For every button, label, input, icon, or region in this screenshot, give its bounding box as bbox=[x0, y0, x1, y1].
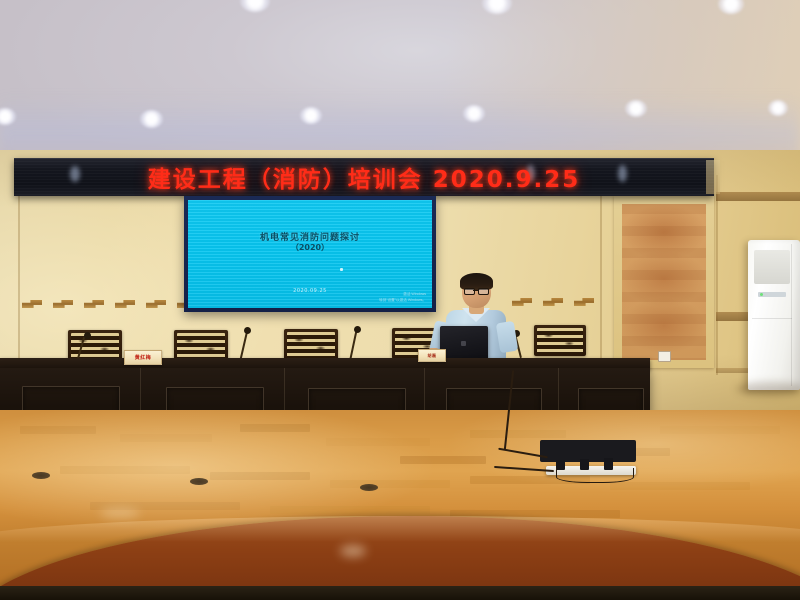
projection-screen-frame: 机电常见消防问题探讨 （2020） 2020.09.25 激活 Windows … bbox=[184, 196, 436, 312]
ceiling-light bbox=[768, 100, 788, 116]
name-card-left: 黄红梅 bbox=[124, 350, 162, 365]
slide-subtitle: （2020） bbox=[188, 242, 432, 253]
wall-seam bbox=[600, 178, 602, 378]
ceiling-light bbox=[463, 105, 485, 122]
power-cable bbox=[556, 468, 634, 483]
microphone-head bbox=[244, 327, 251, 334]
floor-socket bbox=[190, 478, 208, 485]
laptop-lid[interactable] bbox=[440, 326, 488, 362]
wall-trim-upper bbox=[716, 192, 800, 201]
floor-socket bbox=[32, 472, 50, 479]
banner-end-cap bbox=[706, 160, 720, 194]
microphone-head bbox=[84, 332, 91, 339]
ac-seam bbox=[752, 318, 792, 319]
conference-hall-photo: 建设工程（消防）培训会 2020.9.25 机电常见消防问题探讨 （2020） … bbox=[0, 0, 800, 600]
ac-seam bbox=[791, 244, 792, 386]
slide-cursor-dot bbox=[340, 268, 343, 271]
wall-switch[interactable] bbox=[658, 351, 671, 362]
ceiling-light bbox=[625, 100, 647, 117]
wall-seam bbox=[716, 175, 718, 375]
name-card-left-text: 黄红梅 bbox=[135, 354, 152, 361]
chair-pattern-wave bbox=[537, 328, 583, 353]
lens-glare bbox=[100, 508, 140, 518]
floor-below-stage bbox=[0, 586, 800, 600]
conference-chair bbox=[534, 325, 586, 356]
floor-socket bbox=[360, 484, 378, 491]
name-card-speaker-text: 胡磊 bbox=[428, 353, 437, 359]
decorative-wood-panel bbox=[614, 196, 714, 368]
wall-frieze-left bbox=[22, 300, 202, 309]
led-banner: 建设工程（消防）培训会 2020.9.25 bbox=[14, 158, 714, 196]
air-conditioner-unit[interactable] bbox=[748, 240, 800, 390]
wall-frieze-right bbox=[512, 298, 602, 307]
chair-pattern-wave bbox=[177, 333, 225, 359]
laptop-logo bbox=[461, 341, 466, 346]
projection-screen: 机电常见消防问题探讨 （2020） 2020.09.25 激活 Windows … bbox=[188, 200, 432, 308]
watermark-line-2: 转到"设置"以激活 Windows。 bbox=[379, 298, 426, 303]
ac-vent bbox=[754, 250, 790, 284]
microphone-head bbox=[354, 326, 361, 333]
name-card-speaker: 胡磊 bbox=[418, 349, 446, 362]
windows-activation-watermark: 激活 Windows 转到"设置"以激活 Windows。 bbox=[379, 292, 426, 303]
led-banner-text: 建设工程（消防）培训会 2020.9.25 bbox=[14, 160, 714, 194]
wall-seam bbox=[18, 185, 20, 385]
lens-glare bbox=[340, 545, 366, 557]
chair-pattern-wave bbox=[287, 332, 335, 358]
ac-shadow bbox=[736, 382, 800, 396]
presenter-glasses-bridge bbox=[473, 290, 478, 291]
wood-panel-grain bbox=[622, 204, 706, 360]
presenter-glasses-right-lens bbox=[478, 288, 489, 295]
ac-power-led bbox=[760, 293, 763, 296]
ceiling-light bbox=[300, 107, 322, 124]
conference-chair bbox=[284, 329, 338, 361]
ceiling-light bbox=[140, 110, 163, 128]
